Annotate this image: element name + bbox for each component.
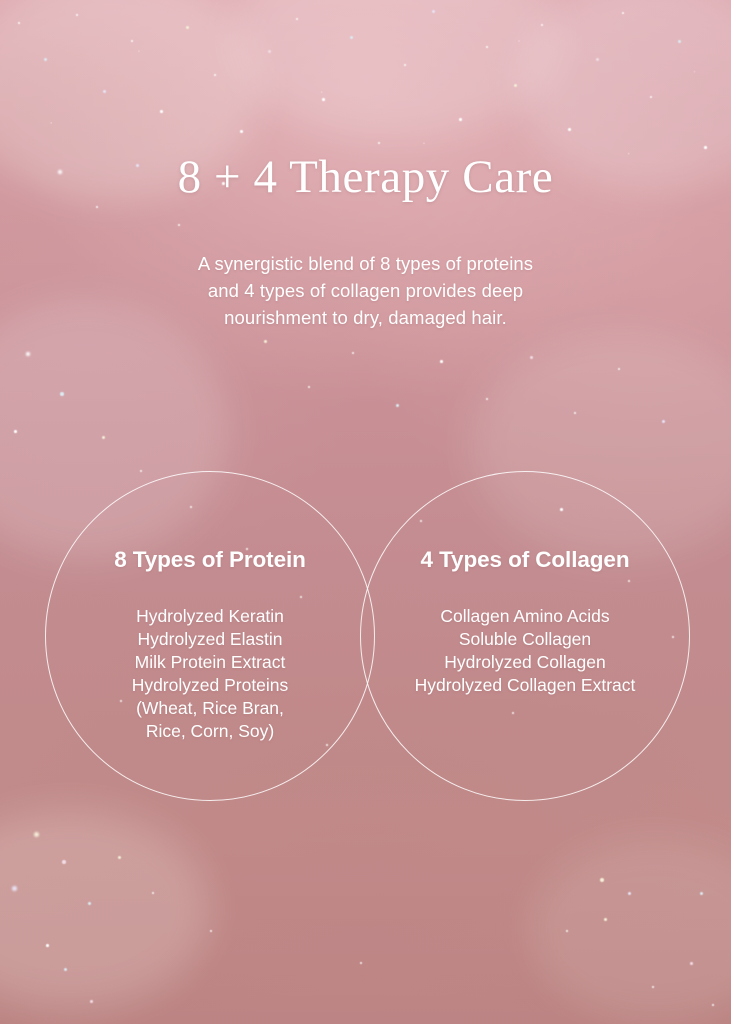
page-title: 8 + 4 Therapy Care — [0, 148, 731, 206]
collagen-list-item: Soluble Collagen — [346, 628, 704, 651]
subtitle-line-2: and 4 types of collagen provides deep — [0, 277, 731, 304]
glitter-cloud-bottom-right — [530, 840, 731, 1020]
protein-list-item: Hydrolyzed Elastin — [31, 628, 389, 651]
collagen-heading: 4 Types of Collagen — [346, 547, 704, 573]
collagen-list-item: Collagen Amino Acids — [346, 605, 704, 628]
venn-panel-protein: 8 Types of Protein Hydrolyzed Keratin Hy… — [45, 471, 375, 801]
collagen-list: Collagen Amino Acids Soluble Collagen Hy… — [346, 605, 704, 697]
venn-panel-collagen: 4 Types of Collagen Collagen Amino Acids… — [360, 471, 690, 801]
protein-list-item: Rice, Corn, Soy) — [31, 720, 389, 743]
protein-list-item: (Wheat, Rice Bran, — [31, 697, 389, 720]
protein-heading: 8 Types of Protein — [31, 547, 389, 573]
collagen-list-item: Hydrolyzed Collagen Extract — [346, 674, 704, 697]
subtitle-line-3: nourishment to dry, damaged hair. — [0, 304, 731, 331]
page-subtitle: A synergistic blend of 8 types of protei… — [0, 250, 731, 331]
glitter-cloud-top-center — [230, 0, 560, 140]
protein-list-item: Milk Protein Extract — [31, 651, 389, 674]
protein-list: Hydrolyzed Keratin Hydrolyzed Elastin Mi… — [31, 605, 389, 743]
glitter-cloud-bottom-left — [0, 810, 210, 1010]
protein-list-item: Hydrolyzed Keratin — [31, 605, 389, 628]
collagen-list-item: Hydrolyzed Collagen — [346, 651, 704, 674]
protein-list-item: Hydrolyzed Proteins — [31, 674, 389, 697]
subtitle-line-1: A synergistic blend of 8 types of protei… — [0, 250, 731, 277]
therapy-care-poster: 8 + 4 Therapy Care A synergistic blend o… — [0, 0, 731, 1024]
